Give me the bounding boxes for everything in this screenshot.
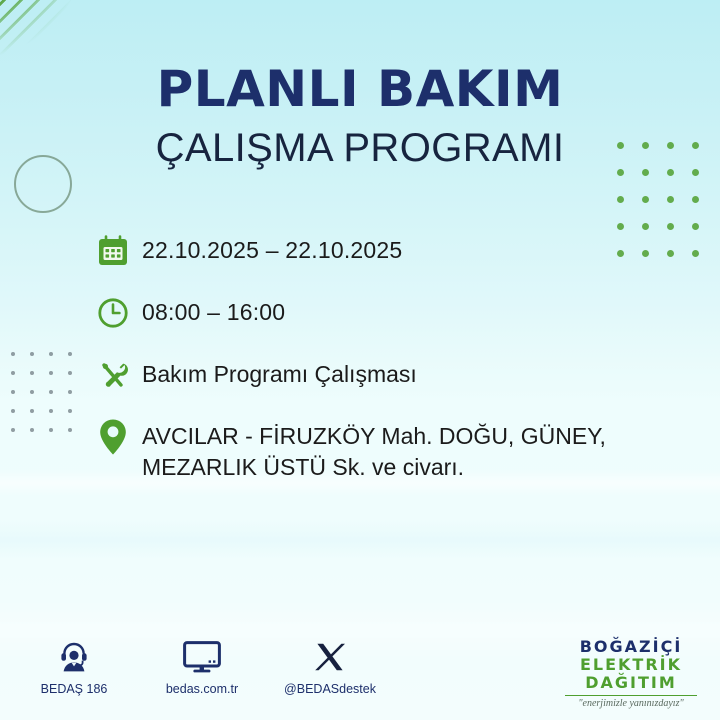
contact-website[interactable]: bedas.com.tr: [156, 636, 248, 696]
contact-social-label: @BEDASdestek: [284, 682, 376, 696]
contact-phone[interactable]: BEDAŞ 186: [28, 636, 120, 696]
background-sheen-band-middle: [0, 520, 720, 560]
page-title: PLANLI BAKIM: [0, 64, 720, 114]
info-row-location: AVCILAR - FİRUZKÖY Mah. DOĞU, GÜNEY, MEZ…: [96, 414, 708, 483]
headset-icon: [28, 636, 120, 678]
info-row-work-type: Bakım Programı Çalışması: [96, 352, 708, 398]
info-row-date: 22.10.2025 – 22.10.2025: [96, 228, 708, 274]
info-list: 22.10.2025 – 22.10.2025 08:00 – 16:00: [96, 228, 708, 499]
contact-phone-label: BEDAŞ 186: [28, 682, 120, 696]
logo-line-bogazici: BOĞAZİÇİ: [556, 638, 706, 656]
logo-line-elektrik: ELEKTRİK: [556, 656, 706, 674]
planned-maintenance-poster: PLANLI BAKIM ÇALIŞMA PROGRAMI: [0, 0, 720, 720]
contact-social[interactable]: @BEDASdestek: [284, 636, 376, 696]
logo-tagline: "enerjimizle yanınızdayız": [556, 698, 706, 709]
info-row-time: 08:00 – 16:00: [96, 290, 708, 336]
info-text-work-type: Bakım Programı Çalışması: [142, 352, 417, 389]
calendar-icon: [96, 228, 142, 274]
page-subtitle: ÇALIŞMA PROGRAMI: [0, 128, 720, 168]
clock-icon: [96, 290, 142, 336]
logo-divider: [565, 695, 697, 696]
contact-website-label: bedas.com.tr: [156, 682, 248, 696]
info-text-time: 08:00 – 16:00: [142, 290, 285, 327]
monitor-icon: [156, 636, 248, 678]
location-pin-icon: [96, 414, 142, 460]
dot-grid-decoration-left: [11, 352, 87, 447]
poster-heading: PLANLI BAKIM ÇALIŞMA PROGRAMI: [0, 64, 720, 168]
contact-list: BEDAŞ 186 bedas.com.tr: [28, 636, 376, 696]
x-social-icon: [284, 636, 376, 678]
info-text-location: AVCILAR - FİRUZKÖY Mah. DOĞU, GÜNEY, MEZ…: [142, 414, 708, 483]
company-logo: BOĞAZİÇİ ELEKTRİK DAĞITIM "enerjimizle y…: [556, 638, 706, 709]
footer: BEDAŞ 186 bedas.com.tr: [0, 636, 720, 720]
info-text-date: 22.10.2025 – 22.10.2025: [142, 228, 402, 265]
tools-icon: [96, 352, 142, 398]
logo-line-dagitim: DAĞITIM: [556, 674, 706, 692]
